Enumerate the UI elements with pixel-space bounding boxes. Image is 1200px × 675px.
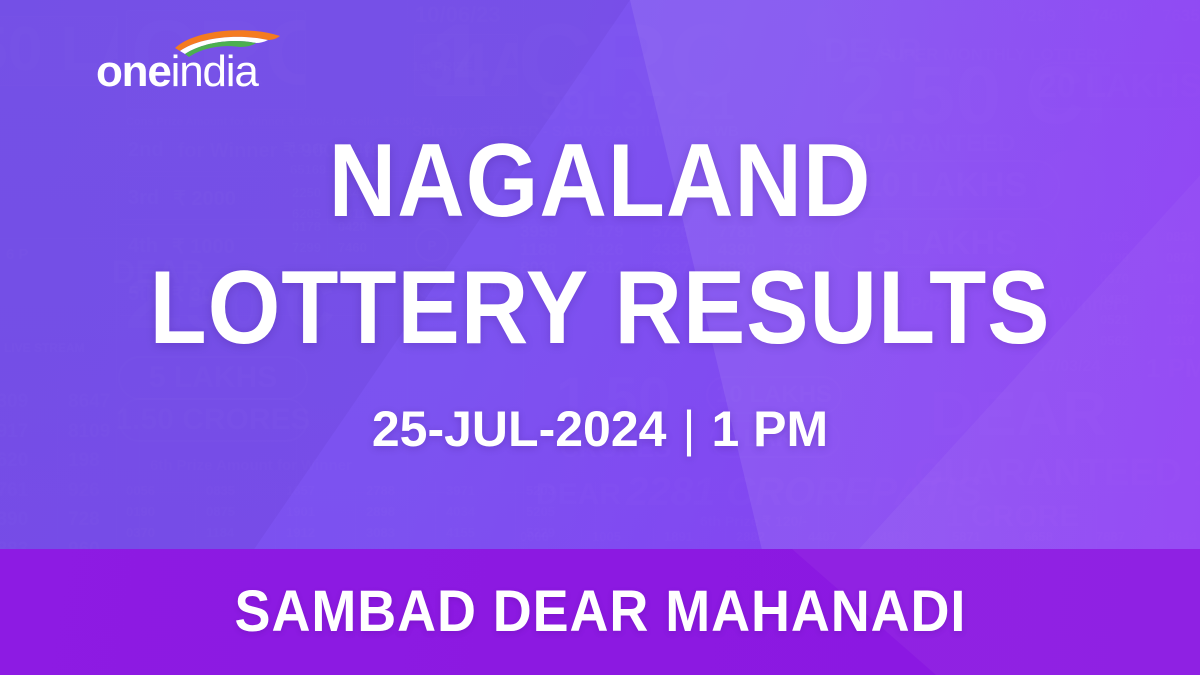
page-title: NAGALAND LOTTERY RESULTS (0, 118, 1200, 372)
draw-time: 1 PM (711, 401, 828, 457)
oneindia-logo[interactable]: oneindia (96, 28, 296, 96)
logo-text-one: one (96, 47, 171, 96)
logo-text-india: india (171, 47, 258, 96)
draw-datetime: 25-JUL-2024|1 PM (0, 404, 1200, 454)
lottery-name-banner: SAMBAD DEAR MAHANADI (0, 549, 1200, 675)
lottery-name: SAMBAD DEAR MAHANADI (234, 583, 966, 641)
datetime-separator: | (666, 404, 711, 454)
title-line-2: LOTTERY RESULTS (60, 245, 1140, 372)
title-line-1: NAGALAND (60, 118, 1140, 245)
oneindia-wordmark: oneindia (96, 50, 258, 94)
lottery-result-banner-image: 50 LAKHS CRORE 34A Cons Prize Amount for… (0, 0, 1200, 675)
draw-date: 25-JUL-2024 (372, 401, 667, 457)
